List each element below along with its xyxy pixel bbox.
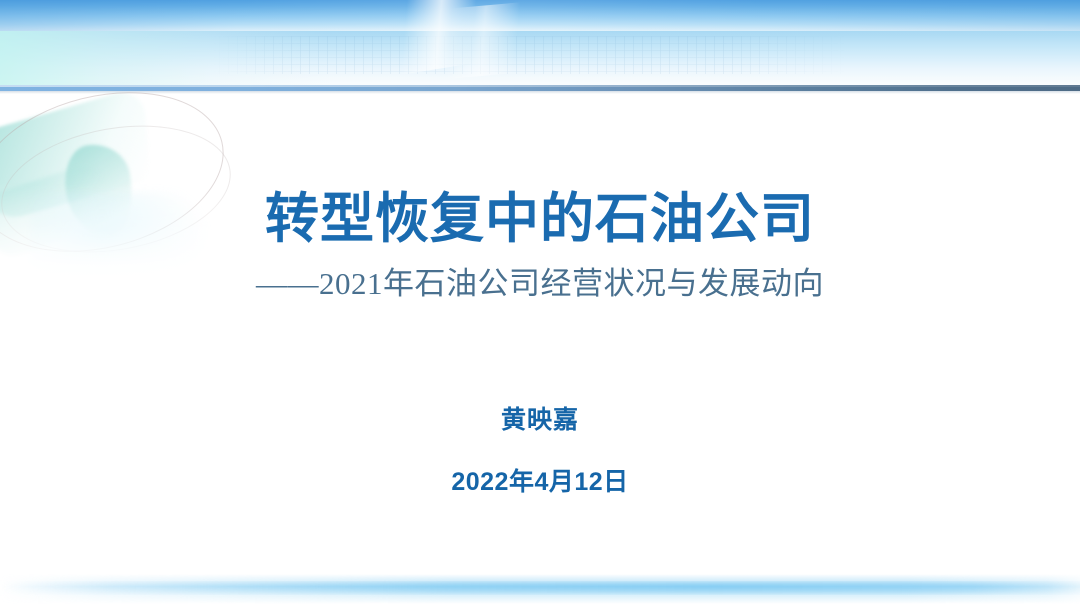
title-slide: 转型恢复中的石油公司 ——2021年石油公司经营状况与发展动向 黄映嘉 2022… xyxy=(0,0,1080,608)
slide-subtitle: ——2021年石油公司经营状况与发展动向 xyxy=(0,264,1080,304)
slide-content: 转型恢复中的石油公司 ——2021年石油公司经营状况与发展动向 黄映嘉 2022… xyxy=(0,0,1080,608)
slide-title: 转型恢复中的石油公司 xyxy=(0,186,1080,252)
presentation-date: 2022年4月12日 xyxy=(0,466,1080,498)
presenter-name: 黄映嘉 xyxy=(0,404,1080,436)
footer-bar-core xyxy=(0,581,1080,595)
